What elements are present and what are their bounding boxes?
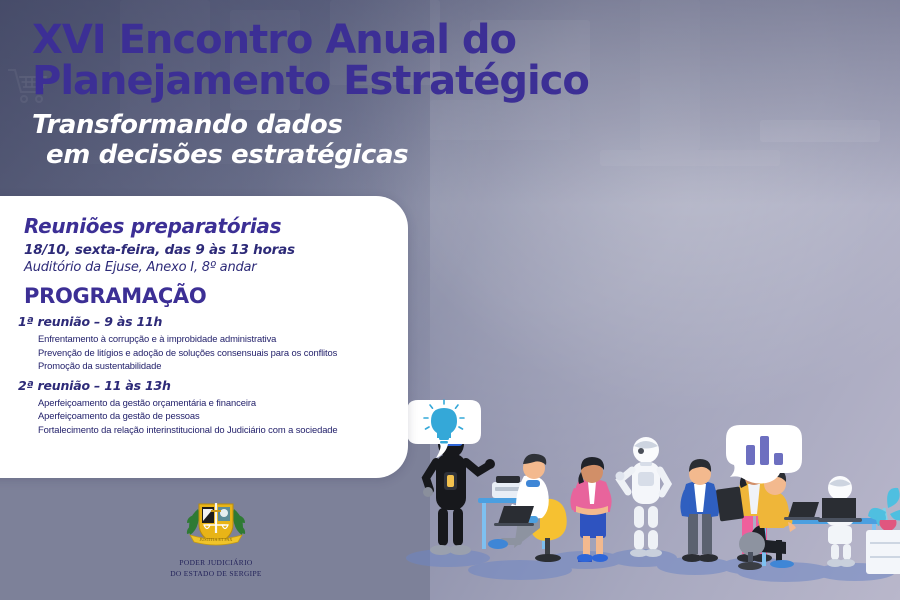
list-item: Fortalecimento da relação interinstituci…: [38, 423, 382, 437]
session-1-title: 1ª reunião – 9 às 11h: [18, 314, 382, 330]
session-2-title: 2ª reunião – 11 às 13h: [18, 378, 382, 394]
figure-white-robot-seated-laptop: [818, 476, 862, 567]
emblem-banner-text: JUSTITIA ET PAX: [200, 537, 233, 542]
title-line-1: XVI Encontro Anual do: [32, 20, 652, 61]
card-place-line: Auditório da Ejuse, Anexo I, 8º andar: [24, 259, 382, 276]
speech-bubble-idea: [406, 396, 482, 458]
coat-of-arms-icon: JUSTITIA ET PAX: [168, 495, 264, 551]
poster-canvas: XVI Encontro Anual do Planejamento Estra…: [0, 0, 900, 600]
session-2-items: Aperfeiçoamento da gestão orçamentária e…: [24, 396, 382, 437]
session-block-2: 2ª reunião – 11 às 13h Aperfeiçoamento d…: [24, 378, 382, 437]
program-heading: PROGRAMAÇÃO: [24, 283, 382, 309]
list-item: Aperfeiçoamento da gestão orçamentária e…: [38, 396, 382, 410]
headline-block: XVI Encontro Anual do Planejamento Estra…: [32, 20, 652, 170]
list-item: Prevenção de litígios e adoção de soluçõ…: [38, 346, 382, 360]
figure-man-white-shirt-laptop: [488, 454, 567, 562]
session-block-1: 1ª reunião – 9 às 11h Enfrentamento à co…: [24, 314, 382, 373]
emblem-line-1: PODER JUDICIÁRIO: [168, 558, 264, 567]
card-heading: Reuniões preparatórias: [24, 214, 382, 238]
object-potted-plant: [866, 488, 900, 574]
emblem-line-2: DO ESTADO DE SERGIPE: [168, 569, 264, 578]
judiciary-emblem: JUSTITIA ET PAX PODER JUDICIÁRIO DO ESTA…: [168, 495, 264, 578]
figure-man-blue-jacket: [680, 459, 719, 562]
figure-white-robot-standing: [616, 437, 669, 557]
figure-woman-pink-blazer: [570, 457, 611, 562]
title-line-2: Planejamento Estratégico: [32, 61, 652, 102]
list-item: Promoção da sustentabilidade: [38, 359, 382, 373]
subtitle-line-2: em decisões estratégicas: [46, 140, 652, 170]
card-date-line: 18/10, sexta-feira, das 9 às 13 horas: [24, 242, 382, 259]
speech-bubble-data: [722, 423, 804, 485]
list-item: Enfrentamento à corrupção e à improbidad…: [38, 332, 382, 346]
subtitle-line-1: Transformando dados: [32, 110, 652, 140]
list-item: Aperfeiçoamento da gestão de pessoas: [38, 409, 382, 423]
session-1-items: Enfrentamento à corrupção e à improbidad…: [24, 332, 382, 373]
program-card: Reuniões preparatórias 18/10, sexta-feir…: [0, 196, 408, 478]
